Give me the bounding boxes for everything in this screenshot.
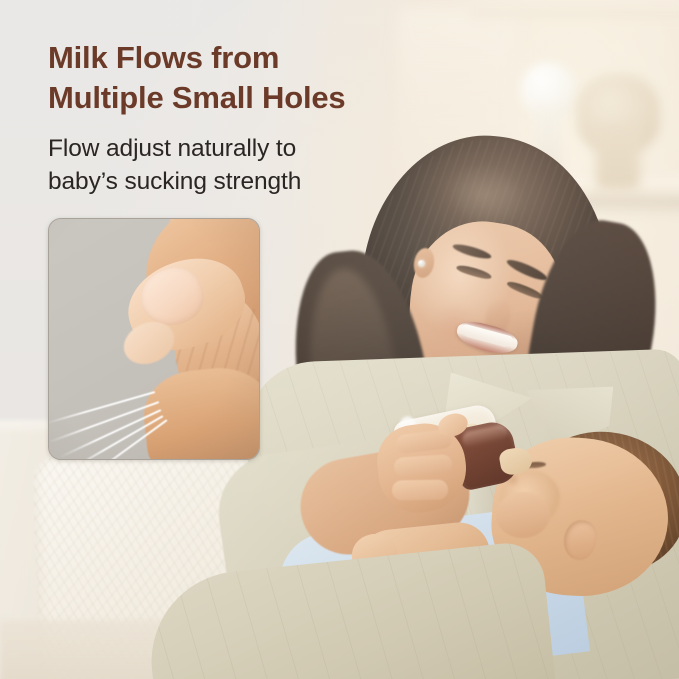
- text-overlay: Milk Flows from Multiple Small Holes Flo…: [48, 38, 448, 198]
- headline-line-2: Multiple Small Holes: [48, 78, 448, 118]
- page-subtitle: Flow adjust naturally to baby’s sucking …: [48, 132, 448, 198]
- earring: [418, 260, 425, 267]
- subheadline-line-2: baby’s sucking strength: [48, 165, 448, 198]
- product-feature-image: brand Milk Flows from Multiple Small Hol…: [0, 0, 679, 679]
- decor-vase-beige-stem: [596, 128, 640, 190]
- upper-shelf: [470, 0, 679, 18]
- page-title: Milk Flows from Multiple Small Holes: [48, 38, 448, 119]
- headline-line-1: Milk Flows from: [48, 38, 448, 78]
- woman-finger: [393, 454, 452, 477]
- subheadline-line-1: Flow adjust naturally to: [48, 132, 448, 165]
- woman-finger: [392, 480, 448, 501]
- inset-detail-photo: [48, 218, 260, 460]
